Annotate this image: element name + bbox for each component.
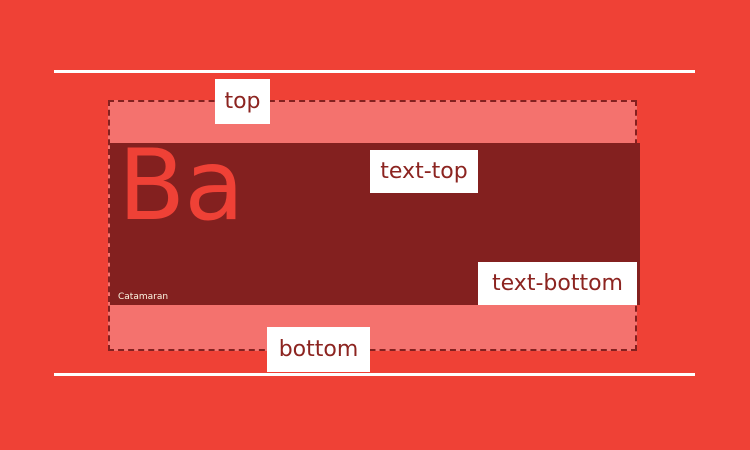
callout-top: top	[215, 79, 270, 124]
bottom-guide-line	[54, 373, 695, 376]
callout-text-bottom: text-bottom	[478, 262, 637, 305]
top-guide-line	[54, 70, 695, 73]
callout-bottom: bottom	[267, 327, 370, 372]
vertical-align-diagram: Ba Catamaran top text-top text-bottom bo…	[0, 0, 750, 450]
sample-glyphs: Ba	[118, 143, 243, 235]
callout-text-top: text-top	[370, 150, 478, 193]
font-name-label: Catamaran	[118, 293, 168, 302]
